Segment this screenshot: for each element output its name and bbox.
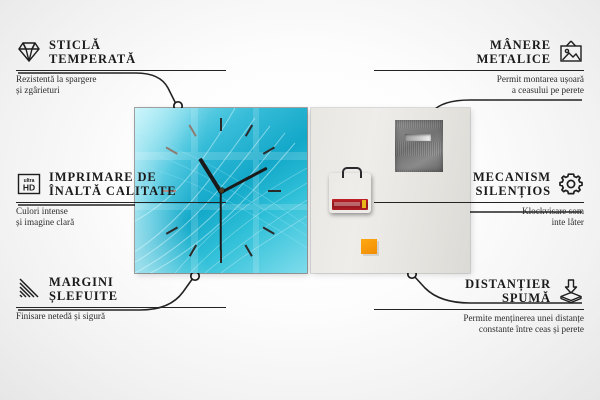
mechanism-seam: [333, 182, 355, 194]
feature-subtitle-line2: și imagine clară: [16, 217, 226, 228]
polished-edge-icon: [16, 276, 42, 302]
clock-tick: [268, 190, 281, 192]
feature-rule: [16, 70, 226, 71]
feature-title-line2: SILENȚIOS: [473, 184, 551, 198]
feature-rule: [374, 309, 584, 310]
feature-subtitle-line2: și zgârieturi: [16, 85, 226, 96]
feature-mecanism-silentios[interactable]: MECANISM SILENȚIOS Klockvisare som inte …: [374, 170, 584, 228]
feature-title-line1: MECANISM: [473, 170, 551, 184]
feature-distantier-spuma[interactable]: DISTANȚIER SPUMĂ Permite menținerea unei…: [374, 277, 584, 335]
diamond-icon: [16, 39, 42, 65]
feature-rule: [374, 70, 584, 71]
hanger-slot: [405, 134, 431, 141]
feature-subtitle-line2: a ceasului pe perete: [374, 85, 584, 96]
feature-subtitle-line1: Permit montarea ușoară: [374, 74, 584, 85]
battery: [332, 199, 368, 210]
feature-title-line2: METALICE: [477, 52, 551, 66]
gear-icon: [558, 171, 584, 197]
battery-label: [334, 202, 360, 206]
feature-rule: [16, 202, 226, 203]
feature-subtitle-line1: Permite menținerea unei distanțe: [374, 313, 584, 324]
feature-sticla-temperata[interactable]: STICLĂ TEMPERATĂ Rezistentă la spargere …: [16, 38, 226, 96]
clock-tick: [220, 118, 222, 131]
foam-spacer: [361, 239, 377, 254]
battery-terminal: [362, 200, 366, 208]
svg-text:HD: HD: [23, 183, 35, 193]
clock-mechanism-box: [329, 173, 371, 213]
feature-title-line1: MÂNERE: [477, 38, 551, 52]
feature-subtitle-line1: Rezistentă la spargere: [16, 74, 226, 85]
mechanism-hook: [342, 167, 362, 178]
feature-margini-slefuite[interactable]: MARGINI ȘLEFUITE Finisare netedă și sigu…: [16, 275, 226, 322]
frame-hanger-icon: [558, 39, 584, 65]
feature-subtitle-line2: constante între ceas și perete: [374, 324, 584, 335]
feature-rule: [16, 307, 226, 308]
feature-title-line2: ÎNALTĂ CALITATE: [49, 184, 177, 198]
feature-imprimare-inalta-calitate[interactable]: ultra HD IMPRIMARE DE ÎNALTĂ CALITATE Cu…: [16, 170, 226, 228]
clock-tick: [220, 250, 222, 263]
feature-title-line2: TEMPERATĂ: [49, 52, 136, 66]
infographic-canvas: STICLĂ TEMPERATĂ Rezistentă la spargere …: [0, 0, 600, 400]
feature-title-line2: ȘLEFUITE: [49, 289, 118, 303]
feature-title-line1: MARGINI: [49, 275, 118, 289]
feature-title-line2: SPUMĂ: [465, 291, 551, 305]
feature-rule: [374, 202, 584, 203]
feature-title-line1: IMPRIMARE DE: [49, 170, 177, 184]
feature-subtitle-line2: inte låter: [374, 217, 584, 228]
spacer-arrow-icon: [558, 278, 584, 304]
ultra-hd-icon: ultra HD: [16, 171, 42, 197]
feature-subtitle-line1: Culori intense: [16, 206, 226, 217]
feature-manere-metalice[interactable]: MÂNERE METALICE Permit montarea ușoară a…: [374, 38, 584, 96]
feature-title-line1: DISTANȚIER: [465, 277, 551, 291]
feature-title-line1: STICLĂ: [49, 38, 136, 52]
feature-subtitle-line1: Finisare netedă și sigură: [16, 311, 226, 322]
metal-hanger-plate: [395, 120, 443, 172]
feature-subtitle-line1: Klockvisare som: [374, 206, 584, 217]
